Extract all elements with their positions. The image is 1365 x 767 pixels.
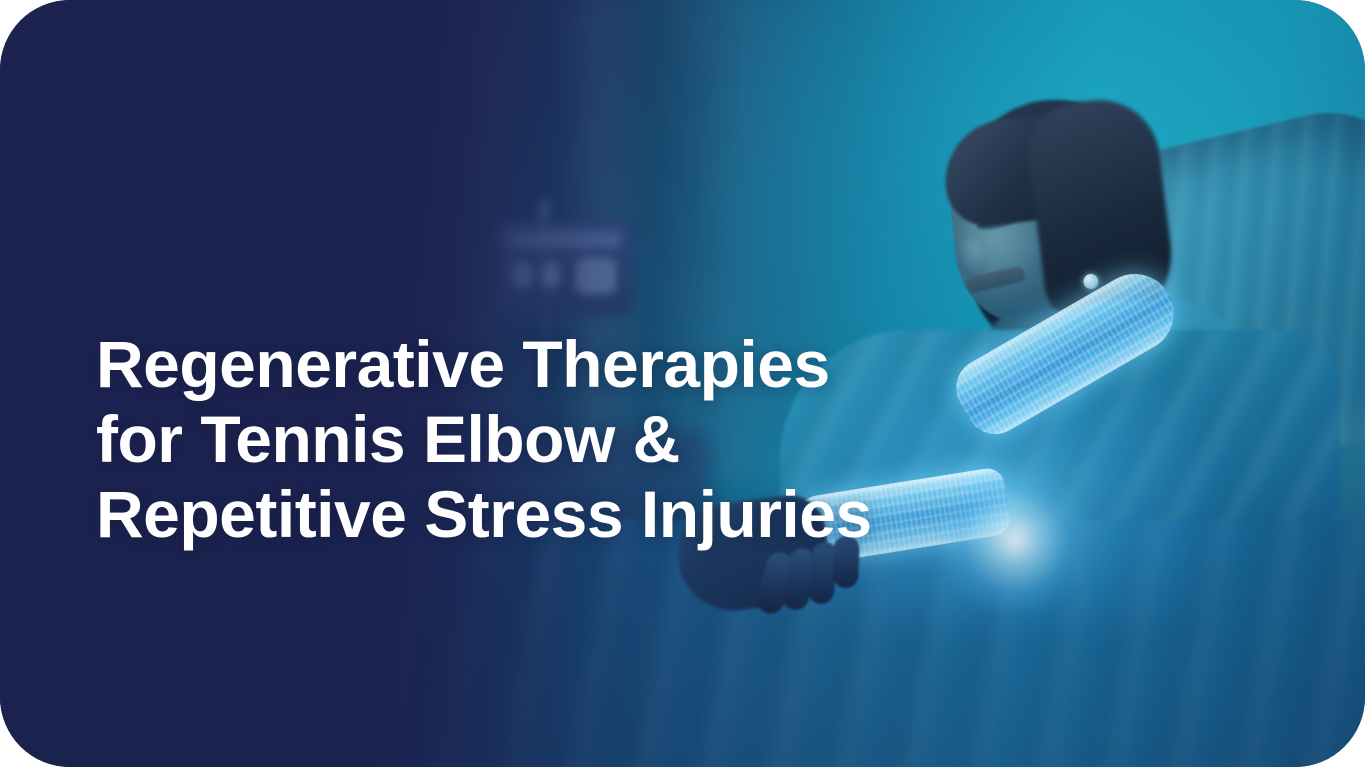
- hero-headline: Regenerative Therapies for Tennis Elbow …: [96, 327, 996, 552]
- headline-line-2: for Tennis Elbow &: [96, 402, 996, 477]
- headline-line-3: Repetitive Stress Injuries: [96, 477, 996, 552]
- headline-line-1: Regenerative Therapies: [96, 327, 996, 402]
- hero-banner: Regenerative Therapies for Tennis Elbow …: [0, 0, 1365, 767]
